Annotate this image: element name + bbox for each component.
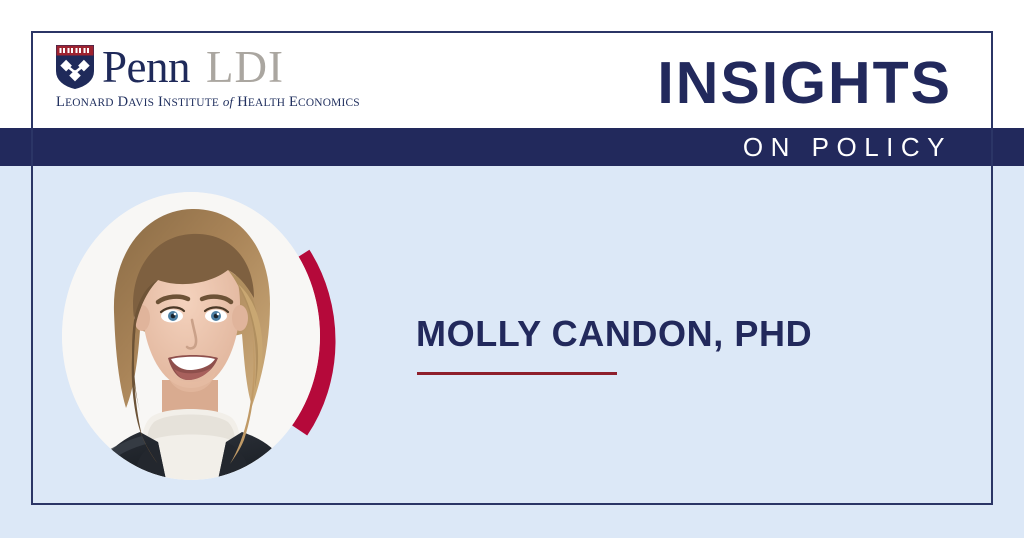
logo-penn-text: Penn [102,44,190,90]
tagline-of: of [223,94,234,109]
insights-on-policy-card: Penn LDI LEONARD DAVIS INSTITUTE of HEAL… [0,0,1024,538]
tagline-w5: CONOMICS [298,97,360,109]
penn-ldi-logo[interactable]: Penn LDI LEONARD DAVIS INSTITUTE of HEAL… [55,44,360,112]
tagline-w2: AVIS [128,97,154,109]
logo-ldi-text: LDI [206,44,284,90]
tagline-l4: H [237,94,248,110]
portrait-avatar [62,192,320,480]
tagline-l1: L [56,94,65,110]
logo-wordmark-row: Penn LDI [55,44,284,90]
tagline-w4: EALTH [248,97,285,109]
penn-shield-icon [55,44,95,90]
speaker-name: MOLLY CANDON, PHD [416,313,812,355]
series-subtitle: ON POLICY [600,131,952,163]
tagline-w1: EONARD [65,97,114,109]
tagline-w3: NSTITUTE [163,97,219,109]
tagline-l5: E [289,94,298,110]
name-underline-rule [417,372,617,375]
series-title: INSIGHTS [640,52,952,114]
logo-tagline: LEONARD DAVIS INSTITUTE of HEALTH ECONOM… [56,93,360,112]
portrait-group [62,192,362,484]
tagline-l2: D [118,94,129,110]
